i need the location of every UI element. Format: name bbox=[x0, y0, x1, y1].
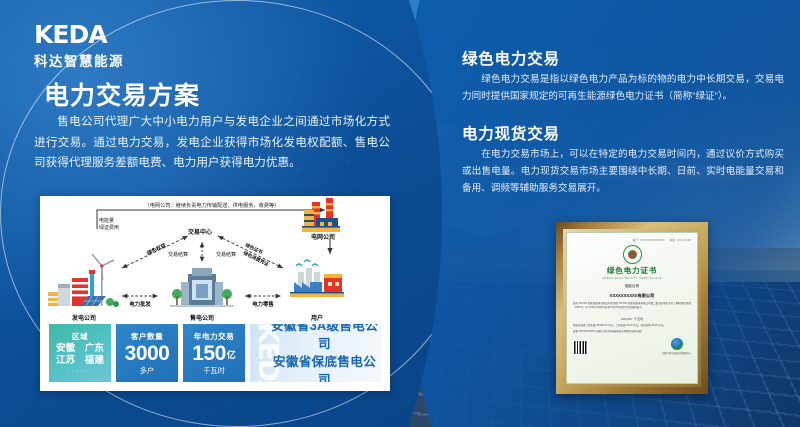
stat-unit: 千瓦时 bbox=[203, 366, 225, 376]
section-body-spot-trading: 在电力交易市场上，可以在特定的电力交易时间内，通过议价方式购买或出售电量。电力现… bbox=[462, 147, 784, 197]
logo-wordmark: KEDA bbox=[34, 22, 124, 47]
certificate-paper: 编号：XXXXXXXXXXXXXX 总量：XXX.XX XX 绿色电力证书 GR… bbox=[566, 232, 698, 384]
logo-text: KEDA bbox=[34, 22, 107, 47]
stat-region-line1: 安徽 广东 bbox=[56, 343, 104, 354]
diagram-settle-left: 交易结算 bbox=[168, 251, 188, 258]
brand-logo: KEDA 科达智慧能源 bbox=[34, 22, 124, 70]
stat-tile-customers: 客户数量 3000 多户 bbox=[116, 324, 178, 382]
diagram-top-note: （电网公司：继续负责电力传输配送、供电服务、收费等） bbox=[145, 201, 280, 209]
diagram-card: （电网公司：继续负责电力传输配送、供电服务、收费等） 电能量 绿证费用 交易中心… bbox=[40, 196, 390, 391]
certificate-paragraph: 现有 XXXXX 新能源发电有限公司全资的 XXXXX 新能源发电有限公司第二批… bbox=[573, 302, 691, 310]
diagram-node-retailer-label: 售电公司 bbox=[190, 314, 214, 322]
stats-credentials: KEDA 安徽省3A级售电公司 安徽省保底售电公司 bbox=[250, 324, 381, 382]
stat-value-suffix: 亿 bbox=[227, 348, 236, 361]
page-title: 电力交易方案 bbox=[44, 76, 200, 112]
certificate-amount: 100,000 千瓦时 bbox=[573, 312, 691, 322]
diagram-center-label: 交易中心 bbox=[188, 228, 212, 236]
certificate-amount-unit: 千瓦时 bbox=[634, 317, 643, 321]
credential-line-2: 安徽省保底售电公司 bbox=[268, 353, 381, 382]
stat-tile-region: 区域 安徽 广东 江苏 福建 ······ bbox=[49, 324, 111, 382]
diagram-node-user-label: 用户 bbox=[310, 314, 323, 322]
diagram-left-note-2: 绿证费用 bbox=[99, 224, 119, 231]
certificate-topline: 编号：XXXXXXXXXXXXXX 总量：XXX.XX XX bbox=[573, 238, 691, 242]
credentials-lines: 安徽省3A级售电公司 安徽省保底售电公司 bbox=[250, 324, 381, 382]
diagram-diag-left: 绿色权益 bbox=[146, 242, 167, 257]
stat-value: 3000 bbox=[125, 343, 170, 364]
certificate-title: 绿色电力证书 bbox=[573, 265, 691, 276]
green-electricity-certificate: 编号：XXXXXXXXXXXXXX 总量：XXX.XX XX 绿色电力证书 GR… bbox=[556, 222, 708, 394]
certificate-amount-value: 100,000 bbox=[621, 317, 632, 321]
certificate-number: 编号：XXXXXXXXXXXXXX bbox=[633, 238, 665, 242]
diagram-flow-wholesale: 电力批发 bbox=[129, 300, 151, 308]
certificate-frame: 编号：XXXXXXXXXXXXXX 总量：XXX.XX XX 绿色电力证书 GR… bbox=[563, 229, 701, 387]
diagram-node-user-icon bbox=[290, 260, 344, 297]
stat-tile-annual-trading: 年电力交易 150 亿 千瓦时 bbox=[183, 324, 245, 382]
certificate-seal: 国家可再生能源信息管理中心 bbox=[663, 338, 691, 355]
certificate-subtitle: GREEN ELECTRICITY CERTIFICATE bbox=[573, 277, 691, 280]
certificate-total: 总量：XXX.XX XX bbox=[670, 238, 691, 242]
section-title-green-power: 绿色电力交易 bbox=[462, 47, 560, 69]
seal-label: 国家可再生能源信息管理中心 bbox=[663, 351, 691, 355]
stat-caption: 客户数量 bbox=[131, 331, 163, 342]
logo-subtitle: 科达智慧能源 bbox=[34, 50, 124, 70]
certificate-company: XXXXXXXXXX有限公司 bbox=[573, 293, 691, 299]
stat-region-more: ······ bbox=[67, 368, 93, 375]
stat-unit: 多户 bbox=[140, 366, 154, 376]
diagram-node-generation-icon bbox=[48, 254, 119, 307]
certificate-kind: 赋能证明 bbox=[573, 284, 691, 289]
stat-value-wrap: 150 亿 bbox=[192, 343, 236, 364]
power-trading-flow-diagram: （电网公司：继续负责电力传输配送、供电服务、收费等） 电能量 绿证费用 交易中心… bbox=[40, 196, 390, 324]
stats-bar: 区域 安徽 广东 江苏 福建 ······ 客户数量 3000 多户 年电力交易… bbox=[49, 324, 381, 382]
certificate-detail: 相当于减排二氧化碳 49,000.00 千克，二氧化硫 47.00 千克，氮氧化… bbox=[573, 324, 691, 328]
diagram-settle-right: 交易结算 bbox=[216, 251, 236, 258]
section-body-green-power: 绿色电力交易是指以绿色电力产品为标的物的电力中长期交易，交易电力同时提供国家规定… bbox=[462, 72, 784, 106]
stat-caption: 年电力交易 bbox=[194, 331, 234, 342]
page-body-text: 售电公司代理广大中小电力用户与发电企业之间通过市场化方式进行交易。通过电力交易，… bbox=[34, 112, 390, 174]
stat-value: 150 bbox=[192, 343, 226, 364]
credential-line-1: 安徽省3A级售电公司 bbox=[268, 324, 381, 353]
diagram-node-grid-label: 电网公司 bbox=[311, 233, 335, 241]
diagram-node-generation-label: 发电公司 bbox=[71, 314, 96, 322]
diagram-node-grid-icon bbox=[302, 198, 340, 232]
certificate-footer: 国家可再生能源信息管理中心 bbox=[573, 338, 691, 355]
diagram-flow-retail: 电力零售 bbox=[252, 300, 274, 308]
diagram-left-note-1: 电能量 bbox=[99, 217, 114, 224]
certificate-emblem-icon bbox=[623, 245, 642, 264]
stat-region-line2: 江苏 福建 bbox=[56, 355, 104, 366]
section-title-spot-trading: 电力现货交易 bbox=[462, 122, 560, 144]
qr-code-icon bbox=[573, 340, 588, 355]
seal-icon bbox=[671, 338, 683, 350]
certificate-thanks: 感谢 XXXXXXXXXX 有限公司对中国绿色电力消费作出的贡献！ bbox=[573, 330, 691, 334]
stat-caption: 区域 bbox=[72, 331, 88, 342]
diagram-node-retailer-icon bbox=[170, 268, 234, 307]
